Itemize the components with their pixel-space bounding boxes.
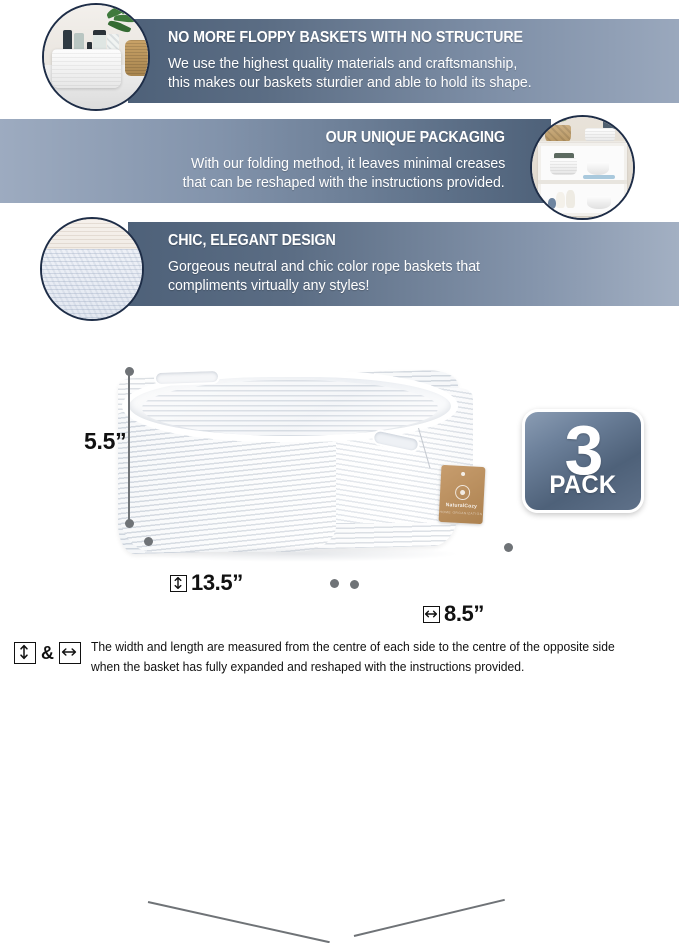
feature-photo-styled-shelf [530,115,635,220]
hangtag-tagline: HOME ORGANIZATION [439,510,483,516]
feature-banner-packaging: OUR UNIQUE PACKAGING With our folding me… [0,119,551,203]
hangtag-brand-name: NaturalCozy [439,502,483,510]
height-arrow-icon [14,642,36,664]
dimension-dot-width-end [504,543,513,552]
photo-texture-lower [42,249,142,319]
feature-body-line-2: compliments virtually any styles! [168,276,369,296]
hangtag: NaturalCozy HOME ORGANIZATION [439,465,486,524]
feature-photo-rope-texture [40,217,144,321]
photo-shelf-divider [538,180,627,184]
dimension-line-length [148,901,330,943]
photo-vase-2 [566,190,575,208]
height-arrow-icon [170,575,187,592]
photo-bowl-middle [587,162,609,174]
feature-body-line-1: We use the highest quality materials and… [168,54,517,74]
disclaimer-text: The width and length are measured from t… [81,636,631,676]
disclaimer-icon-group: & [14,642,81,664]
disclaimer-line-1: The width and length are measured from t… [91,638,615,656]
feature-banner-structure: NO MORE FLOPPY BASKETS WITH NO STRUCTURE… [128,19,679,103]
photo-rattan-basket [125,40,150,75]
feature-body-line-2: this makes our baskets sturdier and able… [168,73,532,93]
dimension-label-width: 8.5” [423,601,484,627]
pack-count-label: PACK [549,473,616,498]
width-arrow-icon [59,642,81,664]
width-arrow-icon [423,606,440,623]
feature-body-line-2: that can be reshaped with the instructio… [183,173,505,193]
ampersand-separator: & [41,643,54,664]
dimension-dot-length-end [330,579,339,588]
feature-body-line-1: With our folding method, it leaves minim… [191,154,505,174]
feature-photo-bathroom-caddy [42,3,150,111]
photo-vase-3 [548,198,556,209]
photo-vase-1 [556,192,565,208]
feature-banner-design: CHIC, ELEGANT DESIGN Gorgeous neutral an… [128,222,679,306]
dimension-label-height: 5.5” [84,428,126,455]
basket-handle-left [154,369,220,386]
product-photo-basket: NaturalCozy HOME ORGANIZATION [118,358,473,558]
feature-title: CHIC, ELEGANT DESIGN [168,232,336,250]
feature-body-line-1: Gorgeous neutral and chic color rope bas… [168,257,480,277]
photo-basket-middle [550,158,577,174]
dimension-label-length: 13.5” [170,570,243,596]
feature-title: NO MORE FLOPPY BASKETS WITH NO STRUCTURE [168,29,523,47]
dimension-dot-length-start [144,537,153,546]
photo-texture-upper [42,219,142,249]
disclaimer-line-2: when the basket has fully expanded and r… [91,658,615,676]
hangtag-hole-icon [461,472,465,476]
brand-logo-icon [454,485,470,501]
dimension-dot-height-top [125,367,134,376]
feature-title: OUR UNIQUE PACKAGING [326,129,505,147]
dimension-value-length: 13.5” [191,570,243,596]
dimension-line-width [354,899,505,937]
dimension-dot-width-start [350,580,359,589]
basket-interior [142,380,438,436]
basket-shadow [140,546,460,562]
photo-blue-tray [583,175,615,179]
dimension-dot-height-bottom [125,519,134,528]
measurement-disclaimer: & The width and length are measured from… [0,636,679,673]
dimension-value-width: 8.5” [444,601,484,627]
pack-count-badge: 3 PACK [522,409,644,513]
photo-rope-basket [52,49,121,89]
dimension-line-height [128,371,130,524]
photo-bowl-bottom [587,196,611,209]
